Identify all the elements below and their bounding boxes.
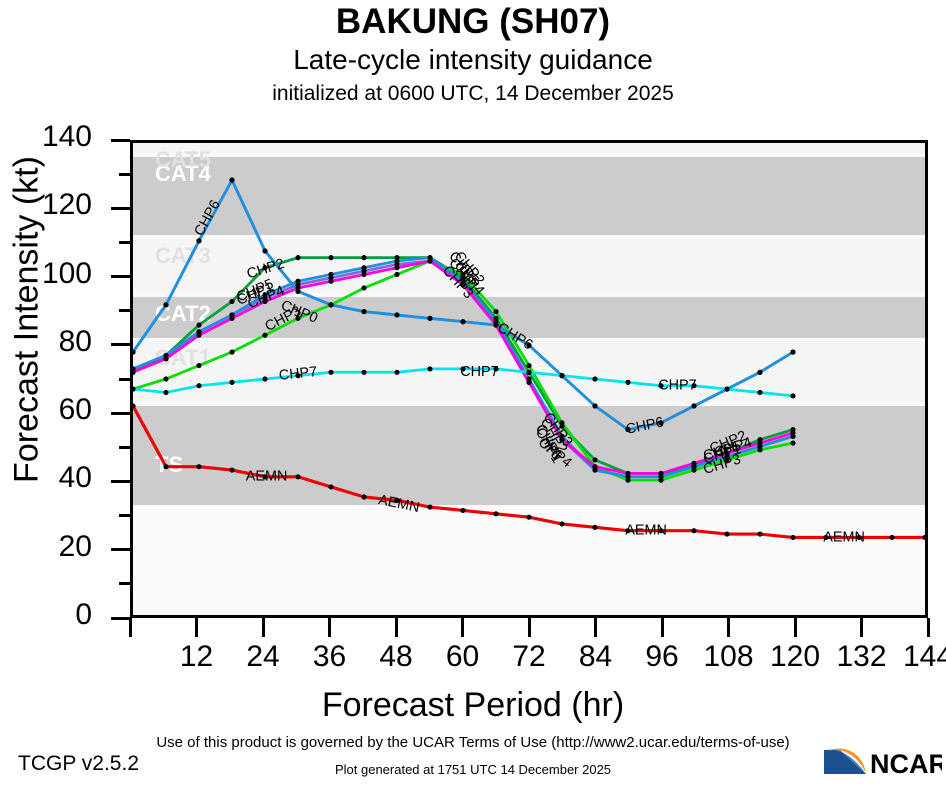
data-point bbox=[328, 272, 333, 277]
data-point bbox=[163, 390, 168, 395]
data-point bbox=[493, 309, 498, 314]
data-point bbox=[526, 380, 531, 385]
y-tick-minor bbox=[119, 241, 130, 244]
data-point bbox=[295, 289, 300, 294]
y-tick-label: 80 bbox=[2, 325, 92, 359]
y-tick-minor bbox=[119, 173, 130, 176]
data-point bbox=[130, 403, 135, 408]
y-tick-minor bbox=[119, 378, 130, 381]
y-tick-label: 60 bbox=[2, 393, 92, 427]
data-point bbox=[427, 258, 432, 263]
page-subtitle: Late-cycle intensity guidance bbox=[0, 44, 946, 76]
y-tick-major bbox=[111, 275, 130, 278]
data-point bbox=[592, 457, 597, 462]
y-tick-major bbox=[111, 139, 130, 142]
data-point bbox=[394, 258, 399, 263]
y-tick-minor bbox=[119, 514, 130, 517]
x-tick-major bbox=[528, 618, 531, 637]
y-tick-label: 120 bbox=[2, 188, 92, 222]
y-tick-minor bbox=[119, 309, 130, 312]
series-label-aemn: AEMN bbox=[246, 469, 288, 485]
data-point bbox=[262, 248, 267, 253]
data-point bbox=[361, 265, 366, 270]
data-point bbox=[163, 356, 168, 361]
data-point bbox=[262, 376, 267, 381]
ncar-logo: NCAR bbox=[822, 744, 942, 785]
data-point bbox=[757, 370, 762, 375]
data-point bbox=[526, 515, 531, 520]
x-tick-major bbox=[129, 618, 132, 637]
x-tick-major bbox=[594, 618, 597, 637]
data-point bbox=[130, 370, 135, 375]
data-point bbox=[328, 484, 333, 489]
series-label-aemn: AEMN bbox=[377, 492, 421, 516]
data-point bbox=[295, 279, 300, 284]
data-point bbox=[163, 464, 168, 469]
version-text: TCGP v2.5.2 bbox=[18, 752, 139, 776]
data-point bbox=[691, 528, 696, 533]
data-point bbox=[196, 464, 201, 469]
data-point bbox=[229, 349, 234, 354]
series-label-chp7: CHP7 bbox=[658, 378, 696, 394]
data-point bbox=[394, 312, 399, 317]
data-point bbox=[295, 474, 300, 479]
data-point bbox=[361, 309, 366, 314]
data-point bbox=[427, 366, 432, 371]
y-tick-major bbox=[111, 412, 130, 415]
data-point bbox=[262, 333, 267, 338]
data-point bbox=[724, 532, 729, 537]
data-point bbox=[295, 255, 300, 260]
data-point bbox=[757, 440, 762, 445]
page-title: BAKUNG (SH07) bbox=[0, 2, 946, 42]
data-point bbox=[196, 363, 201, 368]
y-tick-major bbox=[111, 343, 130, 346]
data-point bbox=[559, 373, 564, 378]
data-point bbox=[757, 532, 762, 537]
data-point bbox=[361, 285, 366, 290]
data-point bbox=[889, 535, 894, 540]
data-point bbox=[229, 178, 234, 183]
data-point bbox=[724, 387, 729, 392]
x-tick-major bbox=[860, 618, 863, 637]
data-point bbox=[361, 272, 366, 277]
data-point bbox=[196, 322, 201, 327]
data-point bbox=[790, 393, 795, 398]
data-point bbox=[130, 349, 135, 354]
x-tick-label: 144 bbox=[888, 640, 946, 674]
data-point bbox=[790, 440, 795, 445]
series-label-chp7: CHP7 bbox=[460, 364, 498, 380]
data-point bbox=[592, 464, 597, 469]
data-point bbox=[790, 430, 795, 435]
y-tick-major bbox=[111, 480, 130, 483]
series-label-chp6: CHP6 bbox=[191, 198, 223, 239]
terms-of-use-text: Use of this product is governed by the U… bbox=[0, 734, 946, 751]
x-tick-major bbox=[395, 618, 398, 637]
data-point bbox=[229, 467, 234, 472]
x-tick-major bbox=[927, 618, 930, 637]
data-point bbox=[922, 535, 927, 540]
data-point bbox=[229, 380, 234, 385]
data-point bbox=[196, 383, 201, 388]
x-tick-major bbox=[262, 618, 265, 637]
series-label-aemn: AEMN bbox=[625, 523, 667, 539]
data-point bbox=[427, 505, 432, 510]
x-tick-major bbox=[195, 618, 198, 637]
data-point bbox=[361, 255, 366, 260]
y-tick-major bbox=[111, 207, 130, 210]
y-tick-label: 40 bbox=[2, 461, 92, 495]
data-point bbox=[658, 471, 663, 476]
data-point bbox=[790, 535, 795, 540]
data-point bbox=[229, 299, 234, 304]
series-label-chp6: CHP6 bbox=[624, 414, 665, 437]
y-tick-label: 0 bbox=[2, 598, 92, 632]
data-point bbox=[592, 525, 597, 530]
y-tick-major bbox=[111, 548, 130, 551]
data-point bbox=[328, 370, 333, 375]
data-point bbox=[757, 390, 762, 395]
data-point bbox=[526, 363, 531, 368]
data-point bbox=[328, 255, 333, 260]
data-point bbox=[394, 265, 399, 270]
data-point bbox=[625, 471, 630, 476]
y-tick-minor bbox=[119, 446, 130, 449]
chart-plot-area: TSCAT1CAT2CAT3CAT4CAT5 CHP6CHP6CHP6CHP7C… bbox=[130, 140, 928, 618]
data-point bbox=[427, 316, 432, 321]
x-tick-major bbox=[727, 618, 730, 637]
x-tick-major bbox=[794, 618, 797, 637]
data-point bbox=[328, 302, 333, 307]
data-point bbox=[592, 403, 597, 408]
data-point bbox=[691, 403, 696, 408]
initialization-text: initialized at 0600 UTC, 14 December 202… bbox=[0, 82, 946, 106]
data-point bbox=[196, 333, 201, 338]
data-point bbox=[130, 387, 135, 392]
data-point bbox=[493, 511, 498, 516]
data-point bbox=[328, 279, 333, 284]
data-point bbox=[790, 349, 795, 354]
y-tick-major bbox=[111, 617, 130, 620]
y-tick-label: 140 bbox=[2, 120, 92, 154]
data-point bbox=[196, 238, 201, 243]
series-label-chp7: CHP7 bbox=[278, 364, 318, 384]
data-point bbox=[559, 521, 564, 526]
data-point bbox=[163, 376, 168, 381]
ncar-logo-text: NCAR bbox=[870, 749, 942, 779]
x-tick-major bbox=[328, 618, 331, 637]
data-point bbox=[625, 380, 630, 385]
forecast-lines: CHP6CHP6CHP6CHP7CHP7CHP7CHP2CHP2CHP2CHP2… bbox=[133, 143, 925, 615]
data-point bbox=[460, 508, 465, 513]
data-point bbox=[460, 319, 465, 324]
data-point bbox=[592, 376, 597, 381]
y-tick-minor bbox=[119, 582, 130, 585]
x-tick-major bbox=[661, 618, 664, 637]
data-point bbox=[394, 272, 399, 277]
data-point bbox=[394, 370, 399, 375]
series-label-aemn: AEMN bbox=[823, 529, 865, 545]
data-point bbox=[361, 370, 366, 375]
y-tick-label: 100 bbox=[2, 257, 92, 291]
x-axis-label: Forecast Period (hr) bbox=[0, 686, 946, 725]
data-point bbox=[526, 370, 531, 375]
data-point bbox=[163, 302, 168, 307]
data-point bbox=[361, 494, 366, 499]
x-tick-major bbox=[461, 618, 464, 637]
data-point bbox=[229, 316, 234, 321]
y-tick-label: 20 bbox=[2, 530, 92, 564]
plot-generated-text: Plot generated at 1751 UTC 14 December 2… bbox=[0, 762, 946, 777]
data-point bbox=[691, 461, 696, 466]
